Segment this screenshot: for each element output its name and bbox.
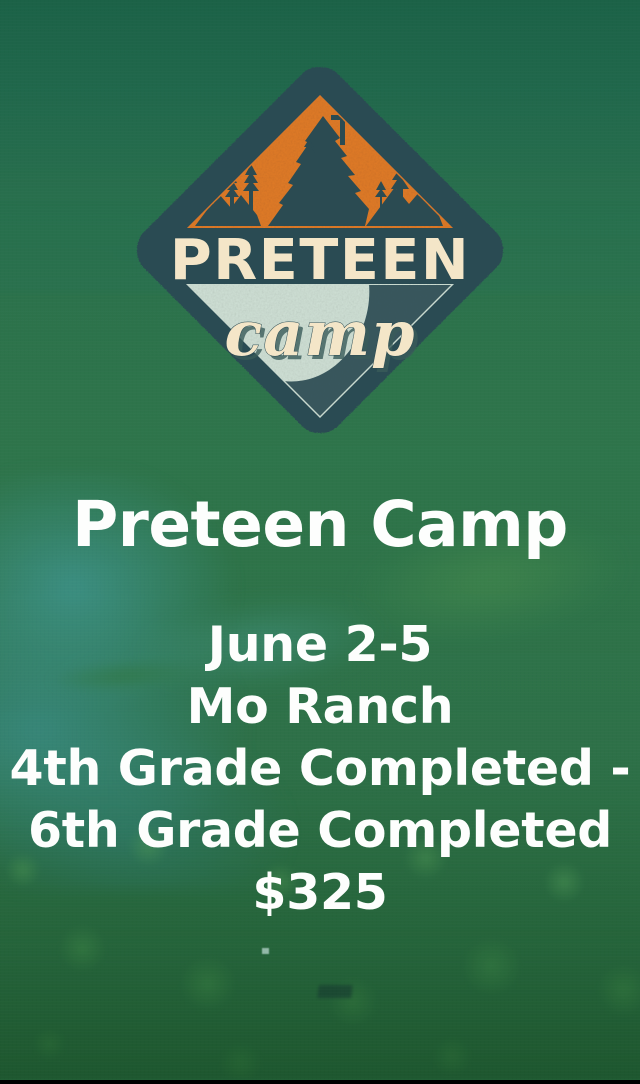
page-title: Preteen Camp [0,492,640,558]
list-item-price: $325 [0,862,640,924]
logo-preteen-text: PRETEEN [170,228,470,293]
logo-camp-text: camp camp [225,297,420,374]
camp-info-block: Preteen Camp June 2-5 Mo Ranch 4th Grade… [0,492,640,924]
preteen-camp-logo: PRETEEN camp camp [133,63,507,437]
list-item-grade-to: 6th Grade Completed [0,800,640,862]
bottom-black-bar [0,1080,640,1084]
camp-details-list: June 2-5 Mo Ranch 4th Grade Completed - … [0,614,640,924]
list-item-location: Mo Ranch [0,676,640,738]
svg-text:camp: camp [225,297,416,370]
preteen-camp-poster: PRETEEN camp camp Preteen Camp June 2-5 … [0,0,640,1084]
list-item-dates: June 2-5 [0,614,640,676]
list-item-grade-from: 4th Grade Completed - [0,738,640,800]
